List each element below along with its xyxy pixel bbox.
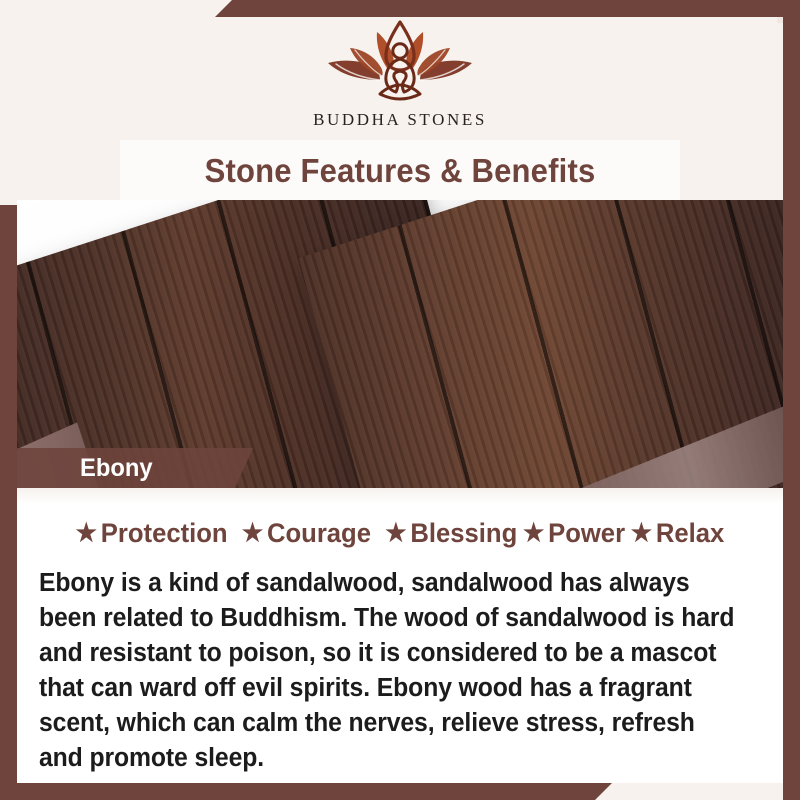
brand-name: BUDDHA STONES	[0, 110, 800, 130]
benefit-label: Relax	[656, 518, 724, 549]
benefit-label: Blessing	[410, 518, 517, 549]
frame-border-left	[0, 205, 17, 800]
benefit-item-power: ★ Power	[523, 518, 625, 549]
star-icon: ★	[242, 521, 263, 546]
brand-logo: BUDDHA STONES	[0, 18, 800, 130]
content-panel: ★ Protection ★ Courage ★ Blessing ★ Powe…	[17, 488, 783, 783]
page-title: Stone Features & Benefits	[24, 140, 776, 202]
frame-border-top	[215, 0, 800, 17]
product-label: Ebony	[80, 448, 153, 488]
star-icon: ★	[523, 521, 544, 546]
benefit-item-protection: ★ Protection	[76, 518, 228, 549]
benefit-label: Courage	[267, 518, 371, 549]
benefit-label: Power	[548, 518, 625, 549]
star-icon: ★	[631, 521, 652, 546]
description-text: Ebony is a kind of sandalwood, sandalwoo…	[39, 566, 739, 776]
benefit-item-relax: ★ Relax	[631, 518, 725, 549]
star-icon: ★	[76, 521, 97, 546]
frame-border-bottom	[0, 783, 612, 800]
infographic-card: BUDDHA STONES Stone Features & Benefits …	[0, 0, 800, 800]
frame-corner-notch	[777, 17, 783, 23]
product-photo	[17, 200, 783, 488]
benefits-list: ★ Protection ★ Courage ★ Blessing ★ Powe…	[36, 518, 764, 549]
benefit-label: Protection	[101, 518, 228, 549]
lotus-meditation-figure-icon	[314, 18, 486, 108]
frame-border-right	[783, 0, 800, 800]
star-icon: ★	[385, 521, 406, 546]
benefit-item-courage: ★ Courage	[242, 518, 371, 549]
benefit-item-blessing: ★ Blessing	[385, 518, 517, 549]
